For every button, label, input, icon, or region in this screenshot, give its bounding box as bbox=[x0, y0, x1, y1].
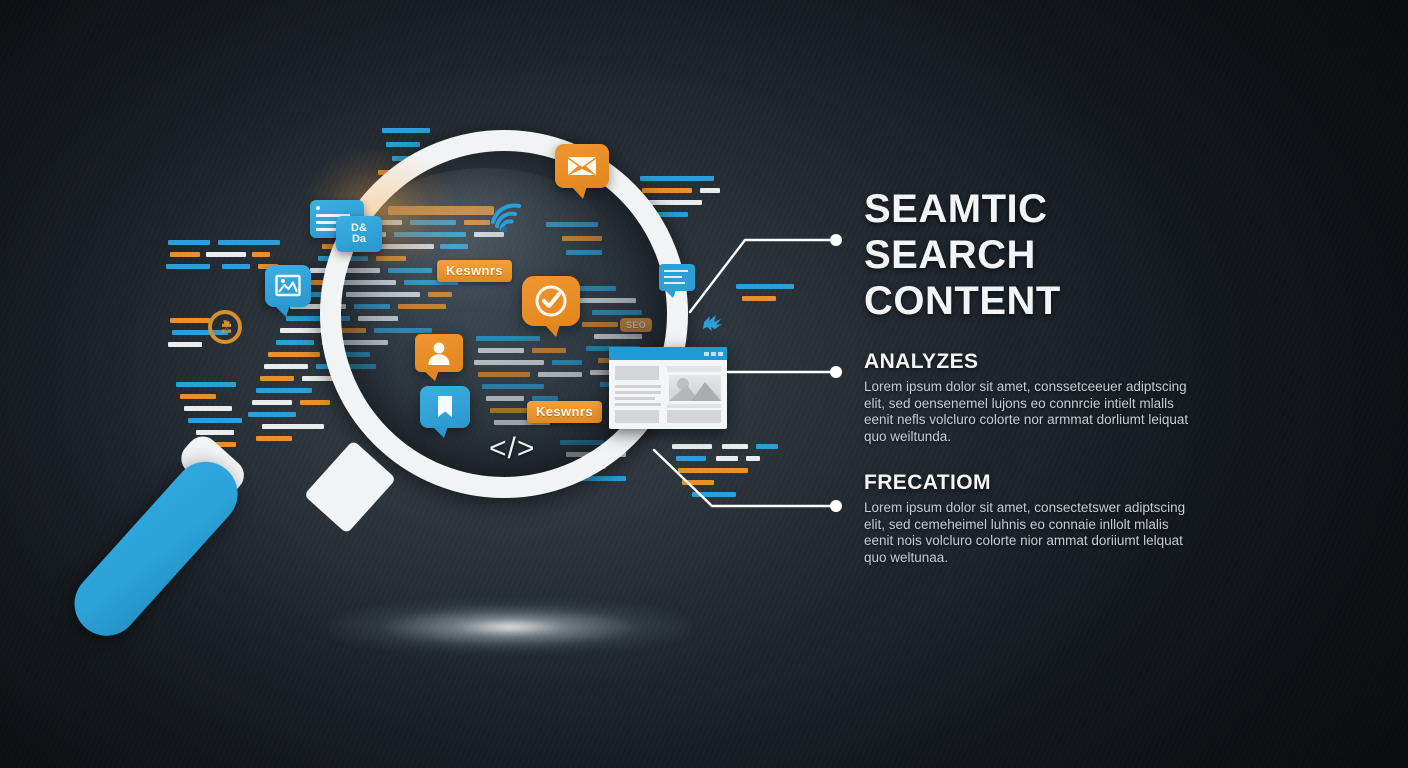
headline-line-1: SEAMTIC bbox=[864, 187, 1048, 231]
section-body: Lorem ipsum dolor sit amet, consectetswe… bbox=[864, 500, 1194, 566]
section-heading: ANALYZES bbox=[864, 350, 1194, 374]
connector-line-3 bbox=[654, 450, 833, 506]
text-panel: SEAMTIC SEARCH CONTENT ANALYZES Lorem ip… bbox=[864, 186, 1194, 566]
section-heading: FRECATIOM bbox=[864, 471, 1194, 495]
connector-line-1 bbox=[690, 240, 833, 312]
section-analyzes: ANALYZES Lorem ipsum dolor sit amet, con… bbox=[864, 350, 1194, 445]
infographic-canvas: D&Da Keswnrs Keswnrs SEO </> bbox=[0, 0, 1408, 768]
connector-dot-3 bbox=[830, 500, 842, 512]
section-body: Lorem ipsum dolor sit amet, conssetceeue… bbox=[864, 379, 1194, 445]
connector-dot-2 bbox=[830, 366, 842, 378]
section-frecatiom: FRECATIOM Lorem ipsum dolor sit amet, co… bbox=[864, 471, 1194, 566]
page-title: SEAMTIC SEARCH CONTENT bbox=[864, 186, 1194, 324]
headline-line-2: SEARCH CONTENT bbox=[864, 232, 1194, 324]
connector-lines bbox=[0, 0, 1408, 768]
connector-dot-1 bbox=[830, 234, 842, 246]
